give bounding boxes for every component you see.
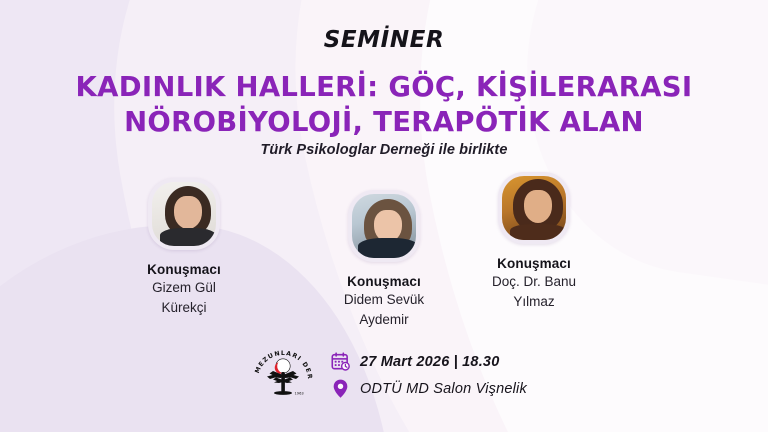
speaker-role: Konuşmacı [434,256,634,271]
page-title-line-2: NÖROBİYOLOJİ, TERAPÖTİK ALAN [40,105,728,140]
speaker-name-line-1: Doç. Dr. Banu [434,273,634,291]
speaker-name-line-2: Aydemir [284,311,484,329]
page-subtitle: Türk Psikologlar Derneği ile birlikte [0,142,768,158]
event-location: ODTÜ MD Salon Vişnelik [360,381,527,397]
portrait-didem-sevuk-aydemir [352,194,416,258]
avatar [148,178,220,250]
avatar [348,190,420,262]
speaker-card-3: Konuşmacı Doç. Dr. Banu Yılmaz [434,172,634,311]
svg-text:1963: 1963 [295,392,304,396]
portrait-banu-yilmaz [502,176,566,240]
page-title-line-1: KADINLIK HALLERİ: GÖÇ, KİŞİLERARASI [76,71,693,103]
speaker-name-line-1: Gizem Gül [84,279,284,297]
speaker-name-line-2: Yılmaz [434,293,634,311]
event-date-row: 27 Mart 2026 | 18.30 [328,348,527,375]
page-title: KADINLIK HALLERİ: GÖÇ, KİŞİLERARASI NÖRO… [40,70,728,140]
speaker-card-1: Konuşmacı Gizem Gül Kürekçi [84,178,284,317]
avatar [498,172,570,244]
event-type-label: SEMİNER [0,27,768,53]
portrait-gizem-gul-kurekci [152,182,216,246]
event-footer: ODTÜ MEZUNLARI DERNEĞİ 1 [250,344,527,406]
calendar-clock-icon [328,350,352,374]
event-location-row: ODTÜ MD Salon Vişnelik [328,375,527,402]
map-pin-icon [328,377,352,401]
speaker-role: Konuşmacı [84,262,284,277]
seminar-poster: SEMİNER KADINLIK HALLERİ: GÖÇ, KİŞİLERAR… [0,0,768,432]
speaker-name-line-2: Kürekçi [84,299,284,317]
event-date: 27 Mart 2026 | 18.30 [360,354,499,370]
odtu-mezunlari-dernegi-logo: ODTÜ MEZUNLARI DERNEĞİ 1 [250,344,316,406]
